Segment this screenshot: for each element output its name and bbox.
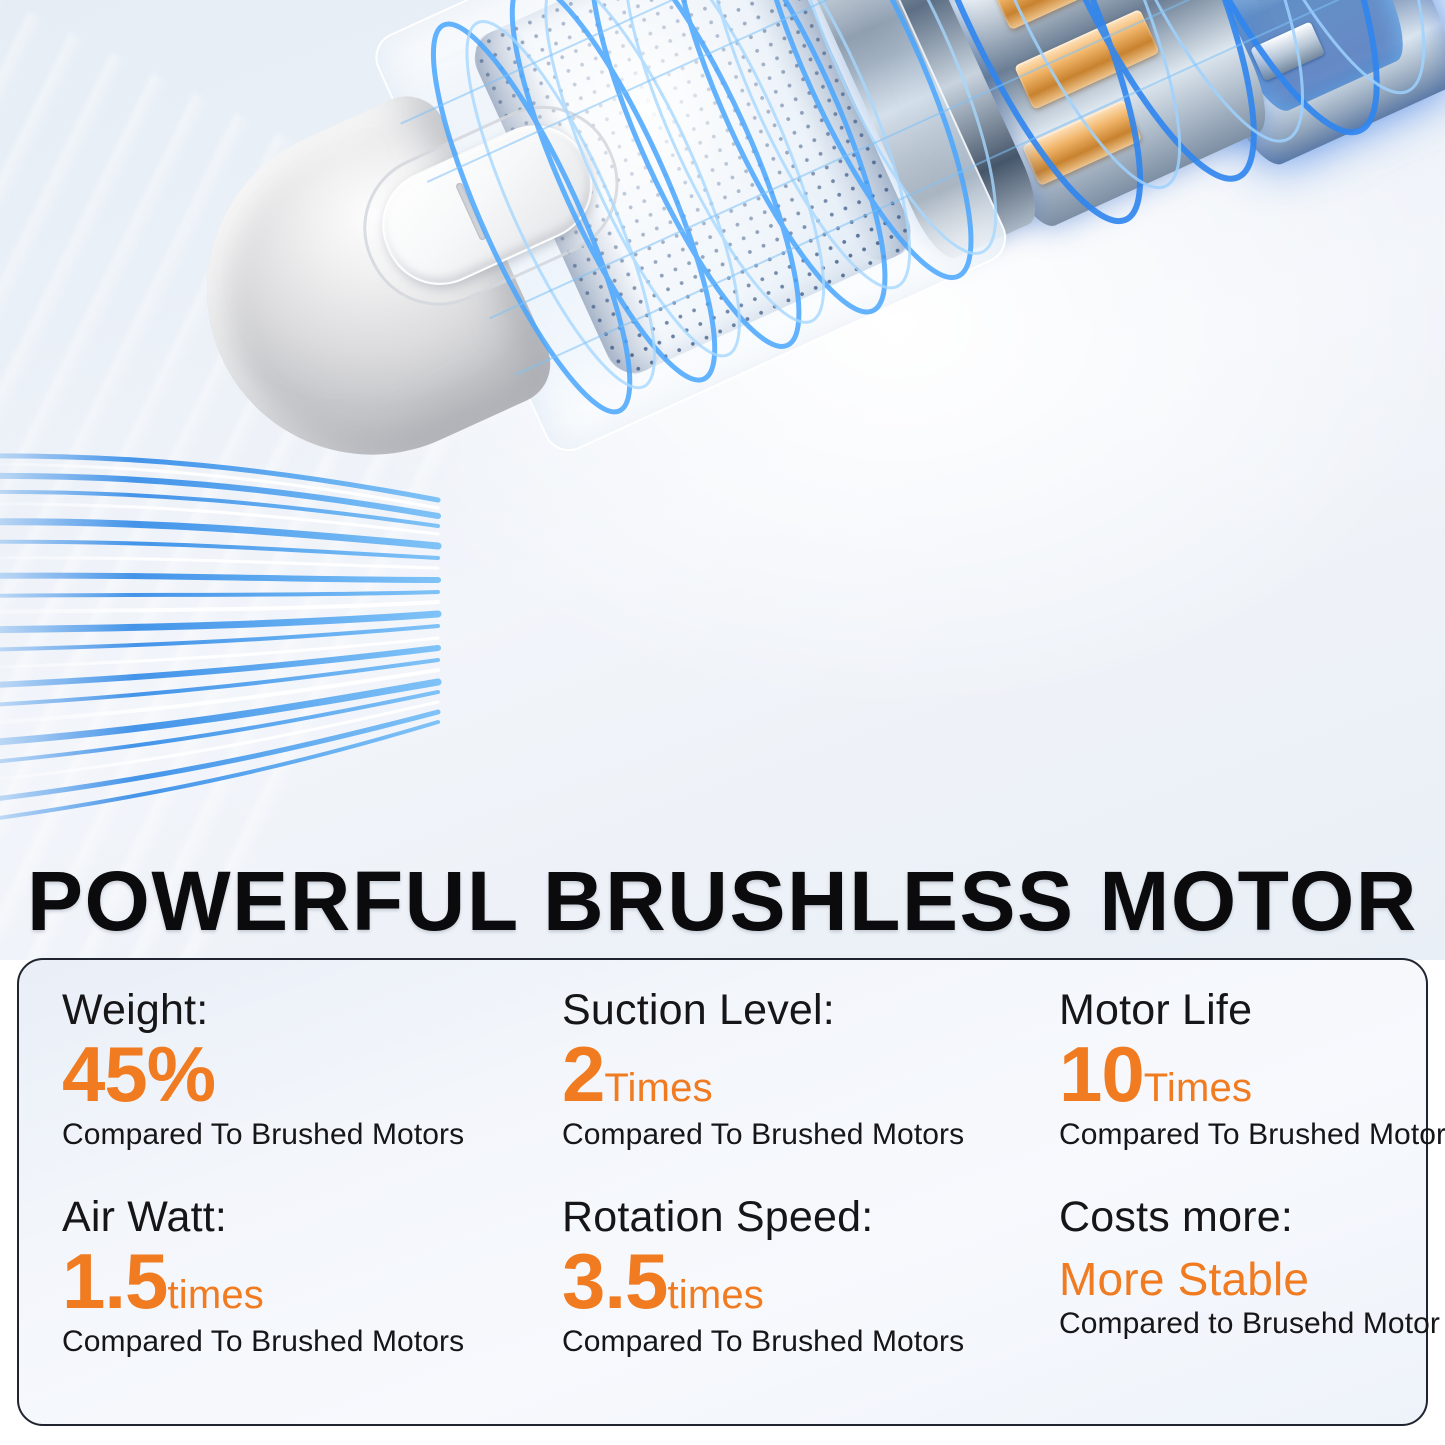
specs-panel: Weight: 45% Compared To Brushed Motors S… — [17, 958, 1428, 1426]
spec-value-unit: Times — [604, 1066, 712, 1110]
spec-value: 45% — [62, 1035, 562, 1115]
spec-value: 10Times — [1059, 1035, 1445, 1115]
spec-value-number: 1.5 — [62, 1237, 167, 1325]
spec-value-unit: Times — [1144, 1066, 1252, 1110]
spec-cell-air-watt: Air Watt: 1.5times Compared To Brushed M… — [62, 1195, 562, 1402]
spec-value-number: 3.5 — [562, 1237, 667, 1325]
spec-value-unit: times — [167, 1273, 264, 1317]
stator-tooth — [1250, 21, 1325, 81]
specs-grid: Weight: 45% Compared To Brushed Motors S… — [19, 960, 1426, 1424]
spec-note: Compared To Brushed Motors — [562, 1118, 1059, 1152]
spec-value-number: 45% — [62, 1030, 215, 1118]
spec-value: More Stable — [1059, 1256, 1445, 1303]
product-infographic: POWERFUL BRUSHLESS MOTOR Weight: 45% Com… — [0, 0, 1445, 1445]
spec-label: Weight: — [62, 988, 562, 1033]
copper-coil — [1014, 9, 1159, 110]
spec-note: Compared To Brushed Motors — [62, 1325, 562, 1359]
spec-cell-rotation-speed: Rotation Speed: 3.5times Compared To Bru… — [562, 1195, 1059, 1402]
page-title: POWERFUL BRUSHLESS MOTOR — [0, 853, 1445, 950]
spec-value: 2Times — [562, 1035, 1059, 1115]
product-hero-image — [0, 0, 1445, 960]
spec-cell-suction-level: Suction Level: 2Times Compared To Brushe… — [562, 988, 1059, 1195]
spec-label: Rotation Speed: — [562, 1195, 1059, 1240]
spec-cell-weight: Weight: 45% Compared To Brushed Motors — [62, 988, 562, 1195]
spec-label: Suction Level: — [562, 988, 1059, 1033]
spec-label: Air Watt: — [62, 1195, 562, 1240]
spec-value: 3.5times — [562, 1242, 1059, 1322]
spec-label: Motor Life — [1059, 988, 1445, 1033]
spec-note: Compared to Brusehd Motor — [1059, 1307, 1445, 1341]
spec-note: Compared To Brushed Motors — [562, 1325, 1059, 1359]
spec-value: 1.5times — [62, 1242, 562, 1322]
spec-note: Compared To Brushed Motors — [62, 1118, 562, 1152]
spec-cell-costs-more: Costs more: More Stable Compared to Brus… — [1059, 1195, 1445, 1402]
spec-cell-motor-life: Motor Life 10Times Compared To Brushed M… — [1059, 988, 1445, 1195]
spec-note: Compared To Brushed Motors — [1059, 1118, 1445, 1152]
copper-coil — [1022, 100, 1142, 186]
spec-value-number: 2 — [562, 1030, 604, 1118]
vacuum-cutaway-assembly — [66, 0, 1445, 654]
spec-label: Costs more: — [1059, 1195, 1445, 1240]
spec-value-text: More Stable — [1059, 1253, 1309, 1305]
spec-value-number: 10 — [1059, 1030, 1144, 1118]
spec-value-unit: times — [667, 1273, 764, 1317]
